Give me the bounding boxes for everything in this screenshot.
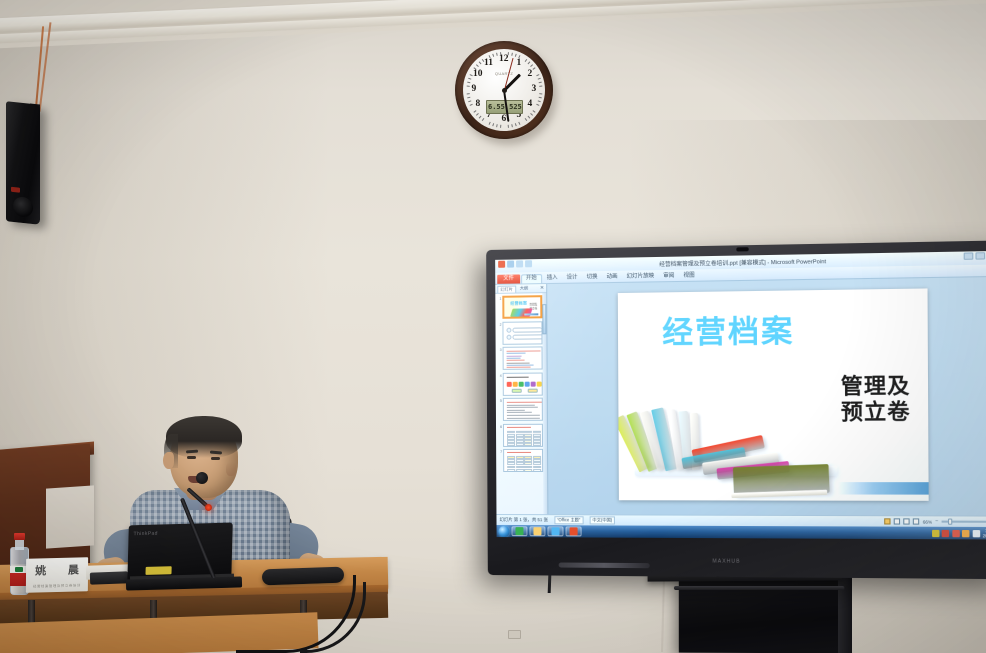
display-brand-label: MAXHUB xyxy=(712,558,740,564)
zoom-slider-knob[interactable] xyxy=(948,518,952,524)
thumbnail-7[interactable] xyxy=(503,449,543,472)
zoom-level: 66% xyxy=(923,519,932,524)
desk-nameplate: 姚 晨 经营档案管理及预立卷培训 xyxy=(26,557,88,593)
thumb-table-cell xyxy=(507,443,515,446)
clock-tick xyxy=(473,110,476,113)
clock-tick xyxy=(515,54,517,57)
thumbnail-number: 7 xyxy=(497,449,502,454)
thumbnail-row[interactable]: 5 xyxy=(497,398,546,421)
clock-tick xyxy=(489,55,491,58)
update-icon[interactable] xyxy=(932,529,940,536)
view-slideshow-icon[interactable] xyxy=(913,518,919,524)
editor-body: 幻灯片 大纲 ✕ 1经营档案管理及预立卷234567 经营档案 xyxy=(495,277,986,516)
view-normal-icon[interactable] xyxy=(885,518,891,524)
clock-numeral-4: 4 xyxy=(527,100,532,110)
thumb-flow-node xyxy=(531,381,536,386)
view-sorter-icon[interactable] xyxy=(894,518,900,524)
wall-outlet xyxy=(508,630,521,639)
thumb-text-line xyxy=(507,353,526,354)
thumb-text-line xyxy=(507,402,542,403)
window-title: 经营档案管理及预立卷培训.ppt [兼容模式] - Microsoft Powe… xyxy=(659,257,826,268)
slide-subtitle-line2: 预立卷 xyxy=(841,399,911,425)
laptop-brand: ThinkPad xyxy=(133,531,157,538)
thumb-text-line xyxy=(507,410,525,411)
taskbar-item[interactable] xyxy=(566,526,582,536)
thumb-table-cell xyxy=(533,469,541,472)
thumbnail-row[interactable]: 7 xyxy=(497,449,546,472)
clock-tick xyxy=(500,125,501,128)
tray-icon-group[interactable] xyxy=(932,529,980,536)
clock-tick xyxy=(539,93,542,94)
thumbnail-number: 4 xyxy=(497,372,502,377)
thumb-text-line xyxy=(507,358,521,359)
thumb-text-line xyxy=(507,360,525,361)
slide-accent-bar xyxy=(837,482,928,494)
thumb-table-cell xyxy=(516,443,524,446)
clock-tick xyxy=(468,78,471,80)
taskbar-item[interactable] xyxy=(511,526,527,536)
clock-tick xyxy=(525,118,528,121)
thumb-text-line xyxy=(507,367,530,368)
thumb-text-line xyxy=(507,412,532,413)
view-reading-icon[interactable] xyxy=(904,518,910,524)
clock-tick xyxy=(539,86,542,87)
network-icon[interactable] xyxy=(962,529,970,536)
clock-tick xyxy=(536,74,539,76)
av-cabinet-rail xyxy=(674,586,844,590)
ribbon-tab-8[interactable]: 视图 xyxy=(679,273,698,281)
clock-tick xyxy=(536,104,539,106)
nose xyxy=(226,462,236,476)
thumb-text-line xyxy=(507,350,541,351)
clock-numeral-2: 2 xyxy=(527,70,532,80)
thumb-bullet xyxy=(506,327,511,332)
thumb-flow-node xyxy=(507,381,512,386)
thumbnail-number: 6 xyxy=(497,423,502,428)
thumb-flow-node xyxy=(513,381,518,386)
powerpoint-app-icon xyxy=(498,261,505,268)
clock-numeral-8: 8 xyxy=(476,100,481,110)
clock-tick xyxy=(479,61,482,64)
flag-icon[interactable] xyxy=(942,529,950,536)
tab-slides[interactable]: 幻灯片 xyxy=(497,285,516,292)
taskbar-clock[interactable]: 13:2 2019/6 xyxy=(983,528,986,539)
thumbnail-row[interactable]: 1经营档案管理及预立卷 xyxy=(496,295,545,319)
clock-numeral-10: 10 xyxy=(473,70,483,80)
thumb-text-line xyxy=(507,362,530,363)
minimize-button[interactable] xyxy=(964,252,974,259)
thumb-flow-node xyxy=(537,381,542,386)
status-right-group[interactable]: 66% − + xyxy=(885,518,986,525)
lcd-left: 6.5 xyxy=(488,103,501,111)
thumb-table-cell xyxy=(524,469,532,472)
clock-numeral-3: 3 xyxy=(532,85,537,95)
windows-taskbar[interactable]: 13:2 2019/6 xyxy=(497,525,986,539)
speaker-badge xyxy=(11,187,20,193)
clock-tick xyxy=(467,93,470,94)
save-icon[interactable] xyxy=(507,261,514,268)
clock-tick xyxy=(476,64,479,67)
taskbar-item-group[interactable] xyxy=(511,526,581,536)
podium-gap xyxy=(46,485,94,548)
thumb-text-line xyxy=(507,415,540,416)
clock-tick xyxy=(479,116,482,119)
clock-tick xyxy=(538,78,541,80)
thumb-text-line xyxy=(507,355,522,356)
clock-numeral-1: 1 xyxy=(517,59,522,69)
clock-numeral-9: 9 xyxy=(472,85,477,95)
slide-subtitle-line1: 管理及 xyxy=(841,374,911,400)
slide-stage[interactable]: 经营档案 管理及 预立卷 xyxy=(547,277,986,516)
lcd-right: 25 xyxy=(513,103,521,111)
ribbon-tab-0[interactable]: 文件 xyxy=(497,274,520,284)
thumb-text-line xyxy=(507,404,535,405)
clock-tick xyxy=(496,124,498,127)
bottle-cap xyxy=(14,533,25,540)
slide-counter: 幻灯片 第 1 张，共 51 张 xyxy=(499,517,548,523)
presenter-remote xyxy=(90,571,128,584)
clock-tick xyxy=(476,113,479,116)
thumb-shape xyxy=(512,327,542,332)
thumb-text-line xyxy=(507,364,534,365)
slide-thumbnail-pane[interactable]: 幻灯片 大纲 ✕ 1经营档案管理及预立卷234567 xyxy=(495,284,548,514)
clock-tick xyxy=(489,122,491,125)
clock-tick xyxy=(467,82,470,84)
clock-tick xyxy=(533,67,536,70)
window-controls[interactable] xyxy=(964,252,986,260)
clock-numeral-6: 6 xyxy=(502,115,507,125)
display-pen-tray[interactable] xyxy=(558,562,649,568)
wall-clock: QUARTZ 121234567891011 6.5 5.5 25 xyxy=(455,41,557,143)
clock-tick xyxy=(468,100,471,102)
taskbar-item[interactable] xyxy=(547,526,563,536)
browser-icon[interactable] xyxy=(515,527,523,535)
thumbnail-2[interactable] xyxy=(502,321,542,345)
clock-tick xyxy=(492,54,494,57)
pane-scroll-thumb[interactable] xyxy=(542,304,546,334)
taskbar-item[interactable] xyxy=(529,526,545,536)
thumb-text-line xyxy=(507,407,538,408)
folder-icon[interactable] xyxy=(533,527,541,535)
clock-tick xyxy=(518,122,520,125)
thumb-title-text: 经营档案 xyxy=(510,300,527,306)
nameplate-subtitle: 经营档案管理及预立卷培训 xyxy=(33,582,81,588)
thumbnail-number: 1 xyxy=(496,296,501,301)
classroom-photo: QUARTZ 121234567891011 6.5 5.5 25 xyxy=(0,0,986,653)
clock-tick xyxy=(511,53,513,56)
start-orb-icon[interactable] xyxy=(499,526,510,537)
laptop-sticker xyxy=(145,566,171,575)
quick-access-toolbar[interactable] xyxy=(498,260,532,268)
ribbon-tab-1[interactable]: 开始 xyxy=(521,274,542,283)
powerpoint-screen[interactable]: 经营档案管理及预立卷培训.ppt [兼容模式] - Microsoft Powe… xyxy=(495,251,986,540)
thumbnail-row[interactable]: 4 xyxy=(497,372,546,395)
presenter-ear xyxy=(163,452,174,469)
clock-tick xyxy=(470,104,473,106)
slide-books-image xyxy=(617,288,927,293)
thumb-heading-line xyxy=(507,376,529,377)
ribbon-tab-3[interactable]: 设计 xyxy=(563,275,582,283)
thumbnail-number: 2 xyxy=(496,321,501,326)
thumb-table-cell xyxy=(516,469,524,472)
language-indicator[interactable]: 中文(中国) xyxy=(589,516,615,524)
clock-tick xyxy=(538,100,541,102)
thumb-shape xyxy=(512,334,542,339)
thumb-text-line xyxy=(507,417,540,418)
clock-date: 2019/6 xyxy=(983,533,986,539)
thumb-flow-node xyxy=(519,381,524,386)
wall-speaker xyxy=(6,101,40,225)
thumb-table-cell xyxy=(507,469,515,472)
thumbnail-5[interactable] xyxy=(503,398,543,421)
thumb-flow-box xyxy=(528,388,538,392)
thumbnail-3[interactable] xyxy=(503,346,543,369)
display-bezel: 经营档案管理及预立卷培训.ppt [兼容模式] - Microsoft Powe… xyxy=(495,251,986,540)
clock-tick xyxy=(511,124,513,127)
slide-title-text: 经营档案 xyxy=(662,317,794,349)
cloud-app-icon[interactable] xyxy=(551,527,559,535)
speaker-driver xyxy=(13,196,33,218)
tab-outline[interactable]: 大纲 xyxy=(518,285,530,291)
nameplate-name: 姚 晨 xyxy=(26,561,88,579)
powerpoint-icon[interactable] xyxy=(570,527,578,535)
clock-tick xyxy=(530,64,533,67)
thumb-bullet xyxy=(506,334,511,339)
clock-tick xyxy=(492,123,494,126)
thumbnail-row[interactable]: 6 xyxy=(497,423,546,446)
thumbnail-row[interactable]: 2 xyxy=(496,321,545,345)
volume-icon[interactable] xyxy=(972,530,980,537)
microphone-led-indicator xyxy=(205,504,212,511)
thumbnail-list[interactable]: 1经营档案管理及预立卷234567 xyxy=(495,293,547,514)
clock-brand: QUARTZ xyxy=(495,71,513,76)
close-pane-icon[interactable]: ✕ xyxy=(540,286,544,291)
microphone-capsule xyxy=(196,472,208,484)
thumb-flow-node xyxy=(525,381,530,386)
theme-name[interactable]: “Office 主题” xyxy=(554,516,583,524)
maximize-button[interactable] xyxy=(975,252,985,259)
thumb-heading-line xyxy=(507,452,531,453)
zoom-slider[interactable] xyxy=(942,521,986,523)
clock-tick xyxy=(533,110,536,113)
clock-tick xyxy=(515,123,517,126)
clock-center-cap xyxy=(502,88,507,93)
antivirus-icon[interactable] xyxy=(952,529,960,536)
ribbon-tab-4[interactable]: 切换 xyxy=(583,274,602,282)
ribbon-tab-5[interactable]: 动画 xyxy=(602,274,621,282)
clock-tick xyxy=(482,118,485,121)
clock-tick xyxy=(530,113,533,116)
clock-tick xyxy=(528,116,531,119)
clock-tick xyxy=(470,74,473,76)
clock-tick xyxy=(500,52,501,55)
bottle-label-logo xyxy=(15,567,23,572)
thumb-flow-box xyxy=(512,388,522,392)
clock-numeral-11: 11 xyxy=(484,59,493,69)
thumbnail-number: 5 xyxy=(497,398,502,403)
ribbon-tab-7[interactable]: 审阅 xyxy=(659,273,678,281)
thumbnail-6[interactable] xyxy=(503,423,543,446)
display-stand-post xyxy=(548,575,552,593)
display-camera-icon xyxy=(736,247,748,251)
zoom-out-button[interactable]: − xyxy=(935,519,938,524)
clock-face: QUARTZ 121234567891011 6.5 5.5 25 xyxy=(463,49,545,131)
slide-subtitle-text: 管理及 预立卷 xyxy=(841,374,911,426)
clock-tick xyxy=(539,82,542,84)
thumbnail-1[interactable]: 经营档案管理及预立卷 xyxy=(502,295,542,319)
ribbon-tab-6[interactable]: 幻灯片放映 xyxy=(623,273,659,282)
clock-tick xyxy=(539,97,542,99)
redo-icon[interactable] xyxy=(525,260,532,267)
clock-tick xyxy=(467,86,470,87)
ribbon-tab-2[interactable]: 插入 xyxy=(543,275,562,283)
thumb-accent-bar xyxy=(524,313,538,315)
thumb-heading-line xyxy=(507,426,531,427)
clock-numeral-12: 12 xyxy=(499,55,509,65)
thumbnail-row[interactable]: 3 xyxy=(497,346,546,370)
clock-tick xyxy=(508,125,509,128)
interactive-flat-panel[interactable]: 经营档案管理及预立卷培训.ppt [兼容模式] - Microsoft Powe… xyxy=(486,240,986,579)
thumb-table-cell xyxy=(524,443,532,446)
system-tray[interactable]: 13:2 2019/6 xyxy=(932,528,986,539)
undo-icon[interactable] xyxy=(516,260,523,267)
thumb-table-cell xyxy=(533,443,541,446)
thumbnail-number: 3 xyxy=(497,347,502,352)
clock-tick xyxy=(467,97,470,99)
clock-tick xyxy=(528,61,531,64)
active-slide[interactable]: 经营档案 管理及 预立卷 xyxy=(617,288,928,500)
clock-tick xyxy=(525,59,528,62)
thumbnail-4[interactable] xyxy=(503,372,543,395)
clock-tick xyxy=(496,53,498,56)
